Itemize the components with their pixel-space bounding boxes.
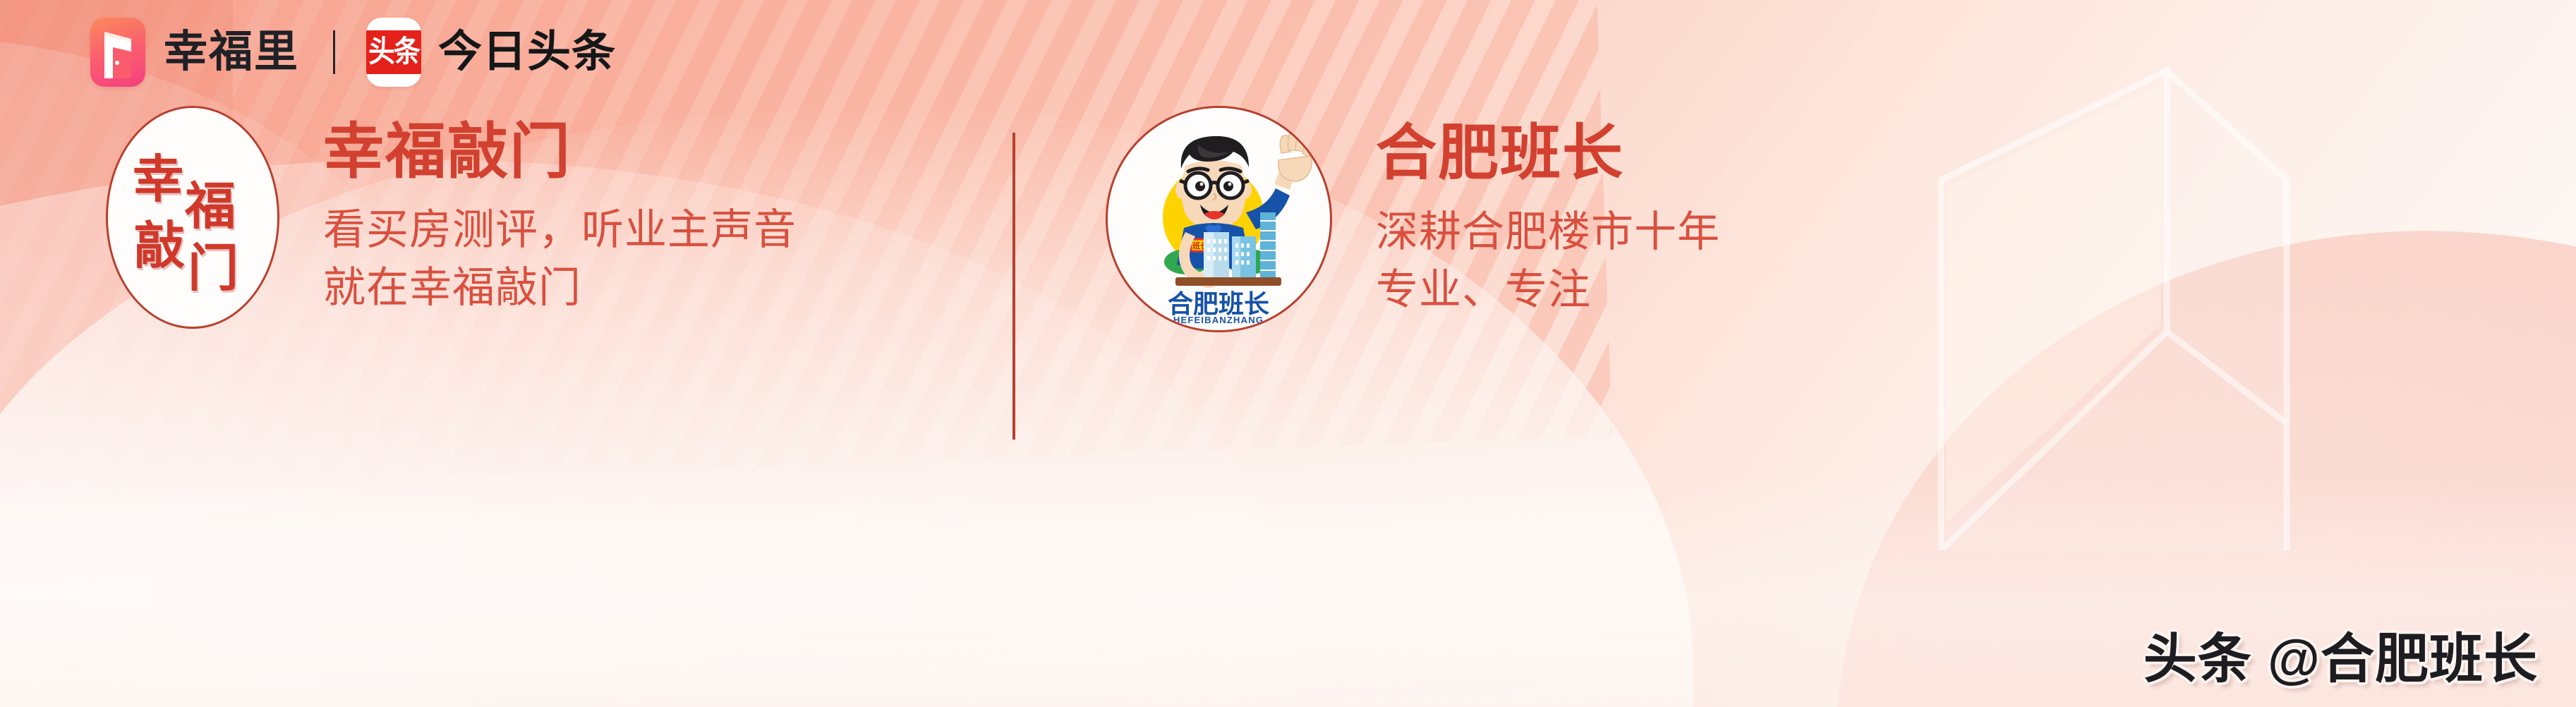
xingfuli-app-icon[interactable] [90, 18, 145, 87]
header-divider [333, 30, 335, 74]
banner-main: 幸 福 敲 门 幸福敲门 看买房测评，听业主声音 就在幸福敲门 [0, 106, 2576, 614]
card-hefeibanzhang[interactable]: 班长 [1106, 106, 1720, 332]
mascot-logo-text: 合肥班长 [1168, 289, 1269, 318]
xingfuqiaomen-badge-text: 幸 福 敲 门 [133, 150, 253, 284]
card-subtitle-line-2: 就在幸福敲门 [323, 260, 797, 315]
card-subtitle-line-1: 看买房测评，听业主声音 [323, 203, 797, 258]
mascot-logo-pinyin: HEFEIBANZHANG [1173, 315, 1264, 325]
toutiao-app-icon[interactable]: 头条 [366, 18, 421, 87]
xingfuqiaomen-badge: 幸 福 敲 门 [106, 106, 279, 329]
card-title: 合肥班长 [1376, 121, 1720, 186]
card-subtitle-line-1: 深耕合肥楼市十年 [1376, 205, 1720, 260]
badge-char-1: 幸 [133, 155, 183, 205]
hefeibanzhang-mascot-badge: 班长 [1106, 106, 1332, 332]
xingfuli-brand-name: 幸福里 [164, 30, 299, 74]
toutiao-brand-name: 今日头条 [438, 30, 616, 74]
card-xingfuqiaomen[interactable]: 幸 福 敲 门 幸福敲门 看买房测评，听业主声音 就在幸福敲门 [106, 106, 797, 329]
card-text-block: 幸福敲门 看买房测评，听业主声音 就在幸福敲门 [323, 119, 797, 316]
promo-banner: 幸福里 头条 今日头条 幸 福 敲 门 幸福敲门 看买房测评，听业主声音 [0, 0, 2576, 707]
banner-header: 幸福里 头条 今日头条 [90, 17, 616, 87]
badge-char-2: 福 [185, 181, 236, 232]
door-icon [100, 29, 135, 81]
toutiao-watermark: 头条 @合肥班长 [2143, 615, 2538, 693]
toutiao-icon-label: 头条 [368, 37, 419, 68]
card-title: 幸福敲门 [323, 119, 797, 185]
badge-char-4: 门 [188, 243, 238, 294]
card-text-block: 合肥班长 深耕合肥楼市十年 专业、专注 [1376, 121, 1720, 318]
badge-char-3: 敲 [134, 221, 185, 272]
mascot-boy-icon: 班长 [1108, 108, 1330, 330]
section-divider [1012, 133, 1015, 440]
card-subtitle-line-2: 专业、专注 [1376, 262, 1720, 318]
toutiao-icon-band: 头条 [366, 30, 421, 74]
